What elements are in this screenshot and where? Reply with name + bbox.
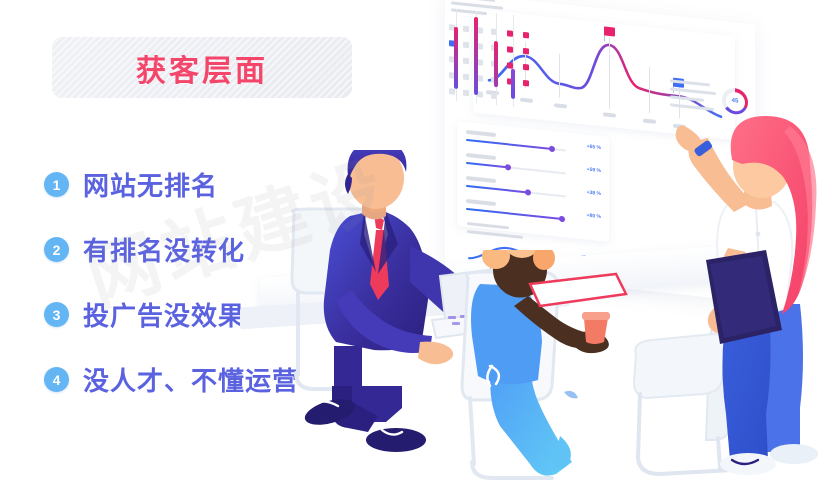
candle-bar[interactable] [454,27,458,89]
widget-line [670,95,704,102]
list-item-label: 投广告没效果 [83,296,245,333]
office-illustration: 45 +65 % [270,0,823,500]
grid-cell-pink[interactable] [523,32,529,39]
progress-label [466,130,496,137]
progress-knob[interactable] [549,146,555,153]
grid-cell[interactable] [463,26,469,33]
page-title: 获客层面 [136,46,268,90]
progress-percent: +59 % [587,167,601,175]
chart-tick [559,54,560,98]
grid-cell-pink[interactable] [523,48,529,55]
candle-bar[interactable] [474,17,478,95]
list-item-number: 4 [44,367,69,392]
list-item-label: 网站无排名 [83,166,218,203]
progress-knob[interactable] [559,216,565,223]
slide-canvas: 获客层面 1 网站无排名 2 有排名没转化 3 投广告没效果 4 没人才、不懂运… [0,0,823,500]
list-item-number: 3 [44,302,69,327]
grid-cell-pink[interactable] [523,64,529,71]
widget-line [670,79,710,86]
progress-knob[interactable] [525,189,531,196]
list-item-number: 2 [44,237,69,262]
grid-cell[interactable] [463,42,469,49]
progress-fill [466,139,552,150]
progress-percent: +65 % [587,144,601,152]
list-item-label: 没人才、不懂运营 [83,361,299,398]
widget-line [670,87,716,95]
grid-cell[interactable] [449,88,455,95]
candle-bar[interactable] [511,69,515,99]
progress-percent: +38 % [587,190,601,198]
grid-cell-pink[interactable] [523,80,529,87]
list-item-label: 有排名没转化 [83,231,245,268]
grid-cell[interactable] [463,90,469,97]
grid-cell[interactable] [463,74,469,81]
chart-tick [609,37,610,109]
candle-bar[interactable] [494,41,498,87]
list-item-number: 1 [44,172,69,197]
figure-seated-person [456,250,636,500]
chart-marker-flag-red[interactable] [604,26,615,36]
figure-standing-woman [670,108,823,500]
gauge-value: 45 [732,98,739,105]
chart-tick [649,67,650,113]
progress-percent: +80 % [587,213,601,221]
grid-cell[interactable] [463,58,469,65]
